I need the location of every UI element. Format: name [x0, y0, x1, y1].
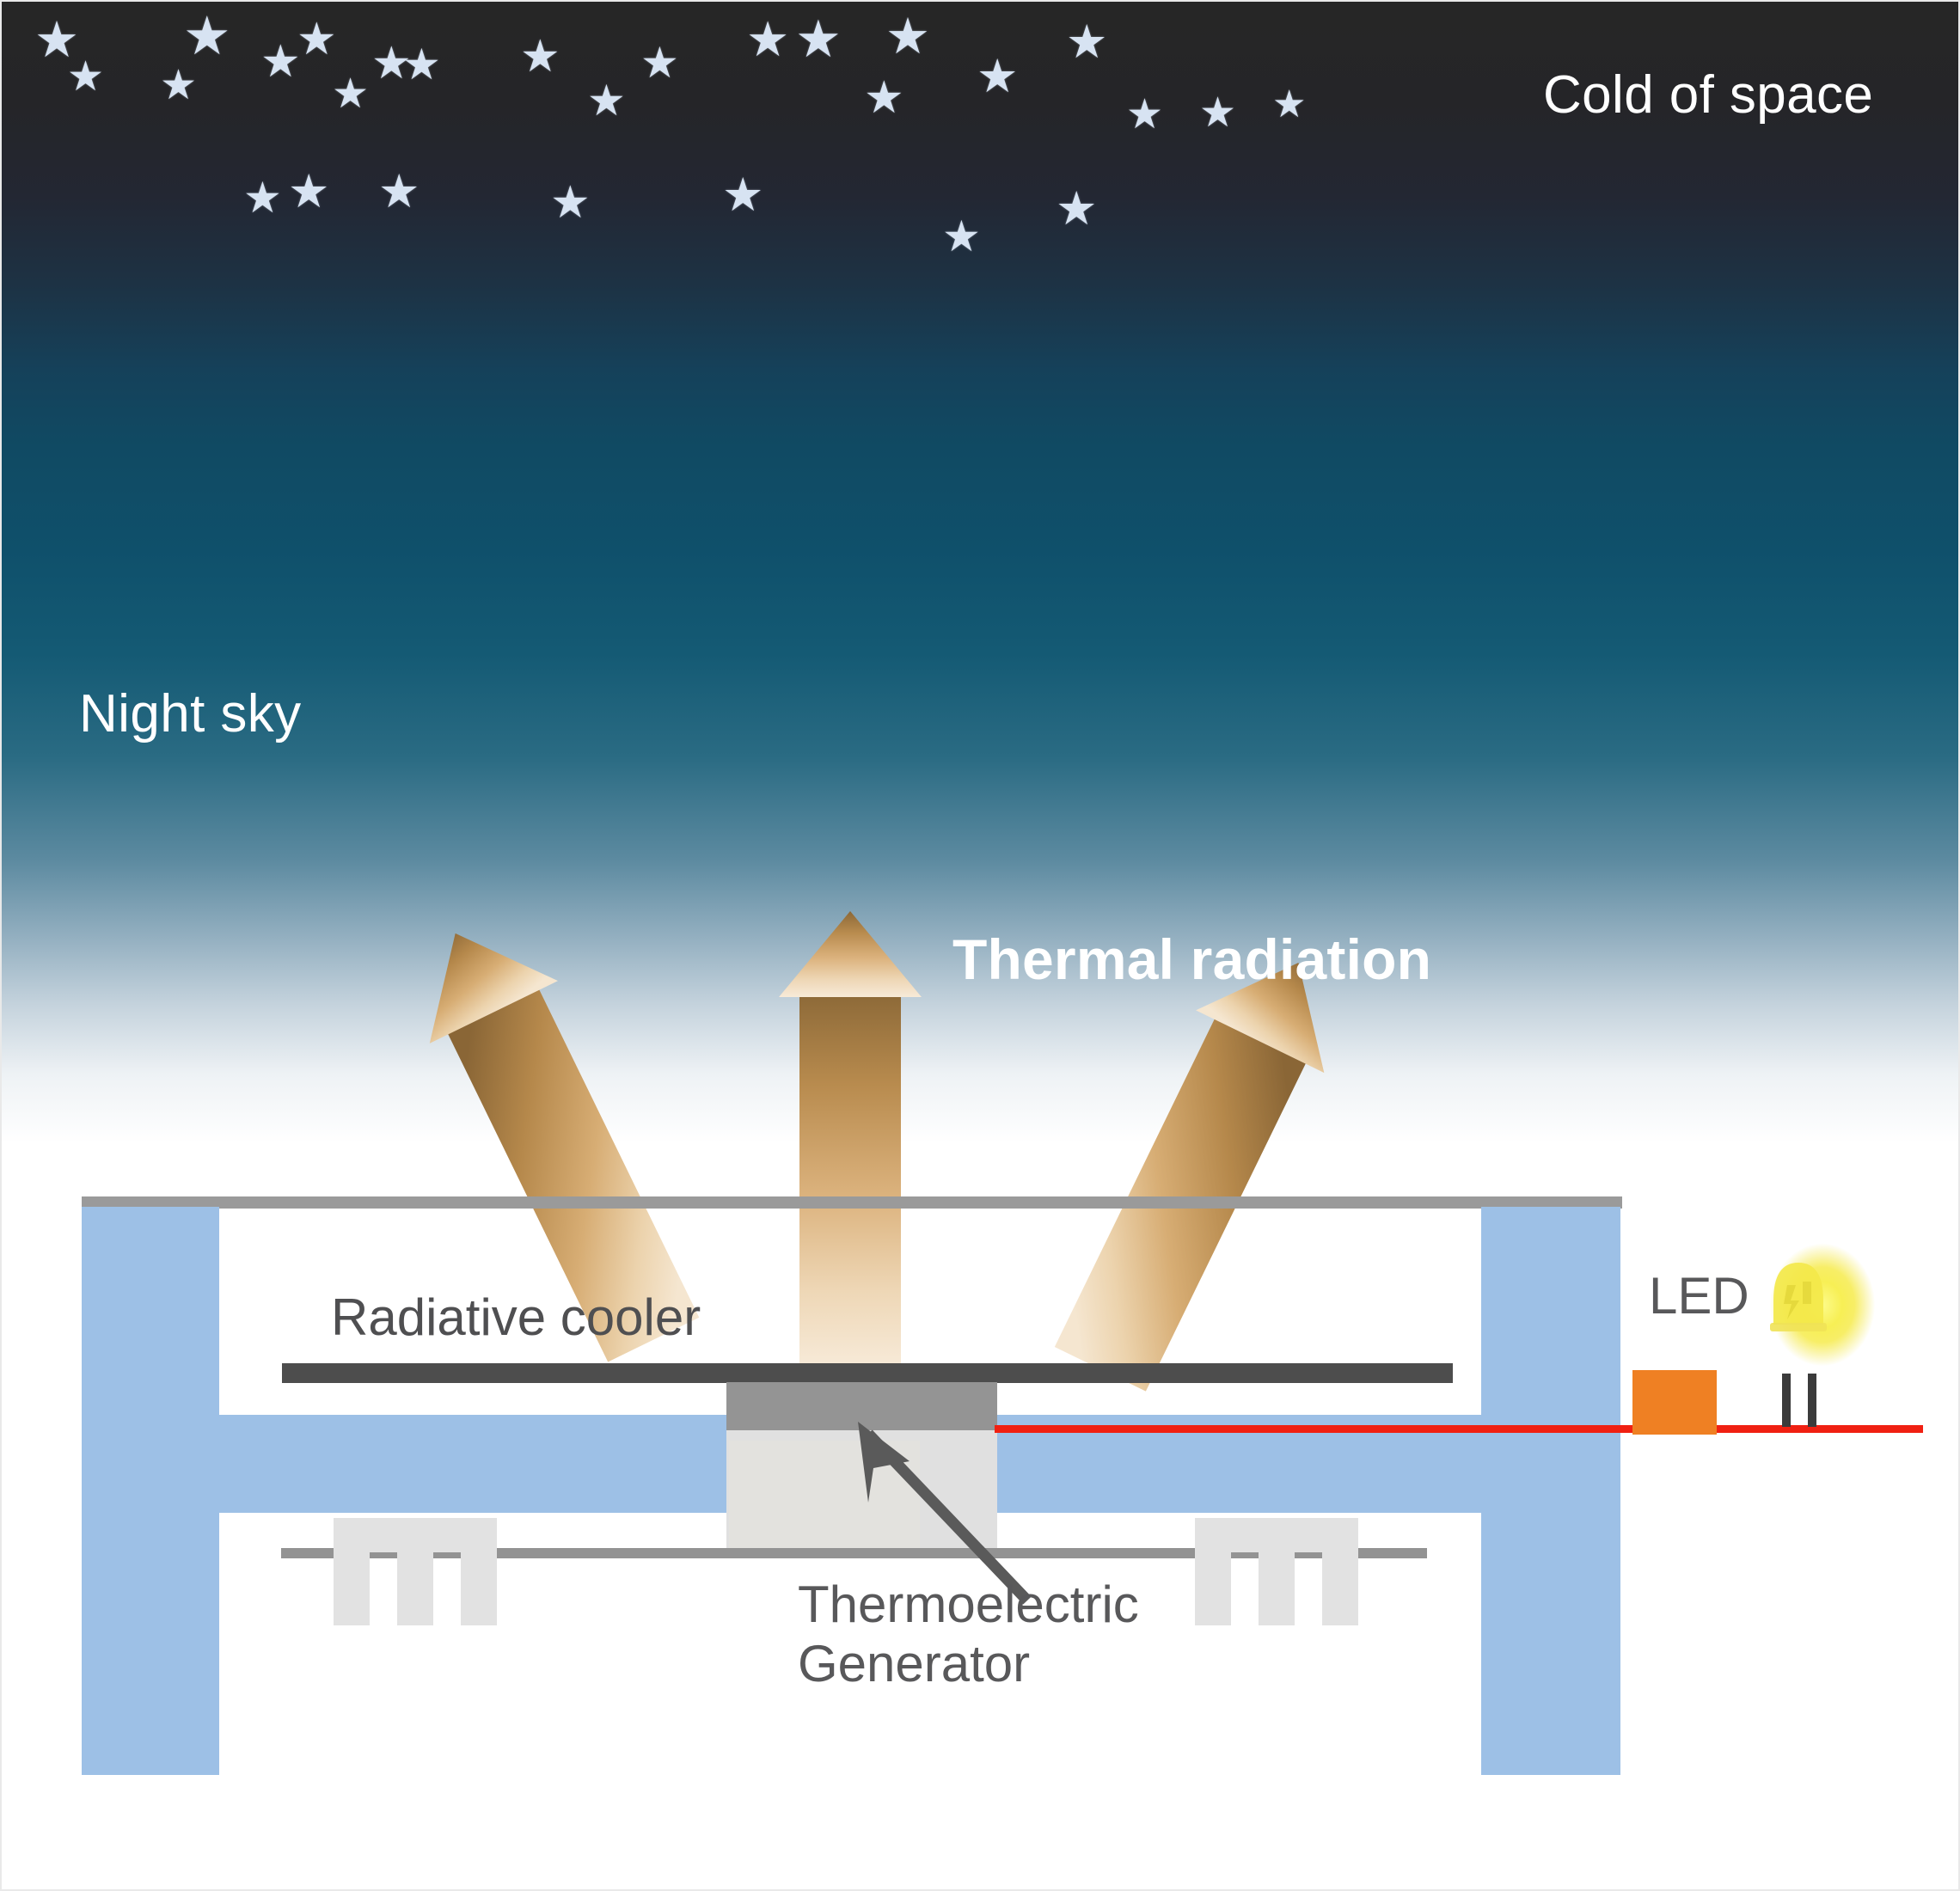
teg-label-line2: Generator — [798, 1634, 1139, 1693]
star-icon: ★ — [864, 76, 904, 120]
star-icon: ★ — [1056, 186, 1097, 232]
center-arrow-icon — [779, 911, 922, 1367]
star-icon: ★ — [977, 53, 1018, 100]
star-icon: ★ — [297, 17, 337, 62]
star-icon: ★ — [243, 176, 282, 219]
led-label: LED — [1649, 1266, 1749, 1325]
star-icon: ★ — [1272, 86, 1306, 124]
star-icon: ★ — [160, 65, 197, 107]
heat-sink-left — [334, 1518, 497, 1625]
led-leg-right — [1808, 1374, 1816, 1427]
star-icon: ★ — [1199, 93, 1236, 134]
top-rail — [82, 1196, 1622, 1209]
led-icon — [1765, 1251, 1832, 1371]
star-icon: ★ — [288, 168, 329, 215]
thermoelectric-generator-label: Thermoelectric Generator — [798, 1575, 1139, 1693]
star-icon: ★ — [795, 14, 842, 65]
star-icon: ★ — [942, 215, 981, 258]
heat-sink-right — [1195, 1518, 1358, 1625]
star-icon: ★ — [67, 57, 104, 98]
star-icon: ★ — [746, 15, 789, 64]
star-icon: ★ — [640, 41, 679, 84]
star-icon: ★ — [1066, 19, 1107, 65]
star-icon: ★ — [885, 12, 930, 62]
star-icon: ★ — [1126, 95, 1163, 136]
star-icon: ★ — [332, 74, 369, 115]
led-leg-left — [1782, 1374, 1791, 1427]
radiative-cooler-plate — [282, 1363, 1453, 1383]
star-icon: ★ — [260, 40, 301, 84]
cold-of-space-label: Cold of space — [1543, 64, 1873, 125]
night-sky-label: Night sky — [79, 683, 302, 744]
radiative-cooler-label: Radiative cooler — [331, 1288, 701, 1347]
star-icon: ★ — [722, 172, 763, 218]
star-icon: ★ — [550, 181, 591, 225]
resistor — [1632, 1370, 1717, 1435]
star-icon: ★ — [587, 79, 626, 122]
star-icon: ★ — [183, 10, 231, 64]
right-arrow-icon — [1036, 932, 1363, 1392]
star-icon: ★ — [378, 168, 420, 215]
diagram-canvas: ★★★★★★★★★★★★★★★★★★★★★★★★★★★★ Cold of spa… — [0, 0, 1960, 1891]
teg-label-line1: Thermoelectric — [798, 1575, 1139, 1634]
star-icon: ★ — [520, 34, 560, 79]
star-icon: ★ — [402, 43, 441, 86]
thermal-radiation-label: Thermal radiation — [952, 927, 1431, 992]
